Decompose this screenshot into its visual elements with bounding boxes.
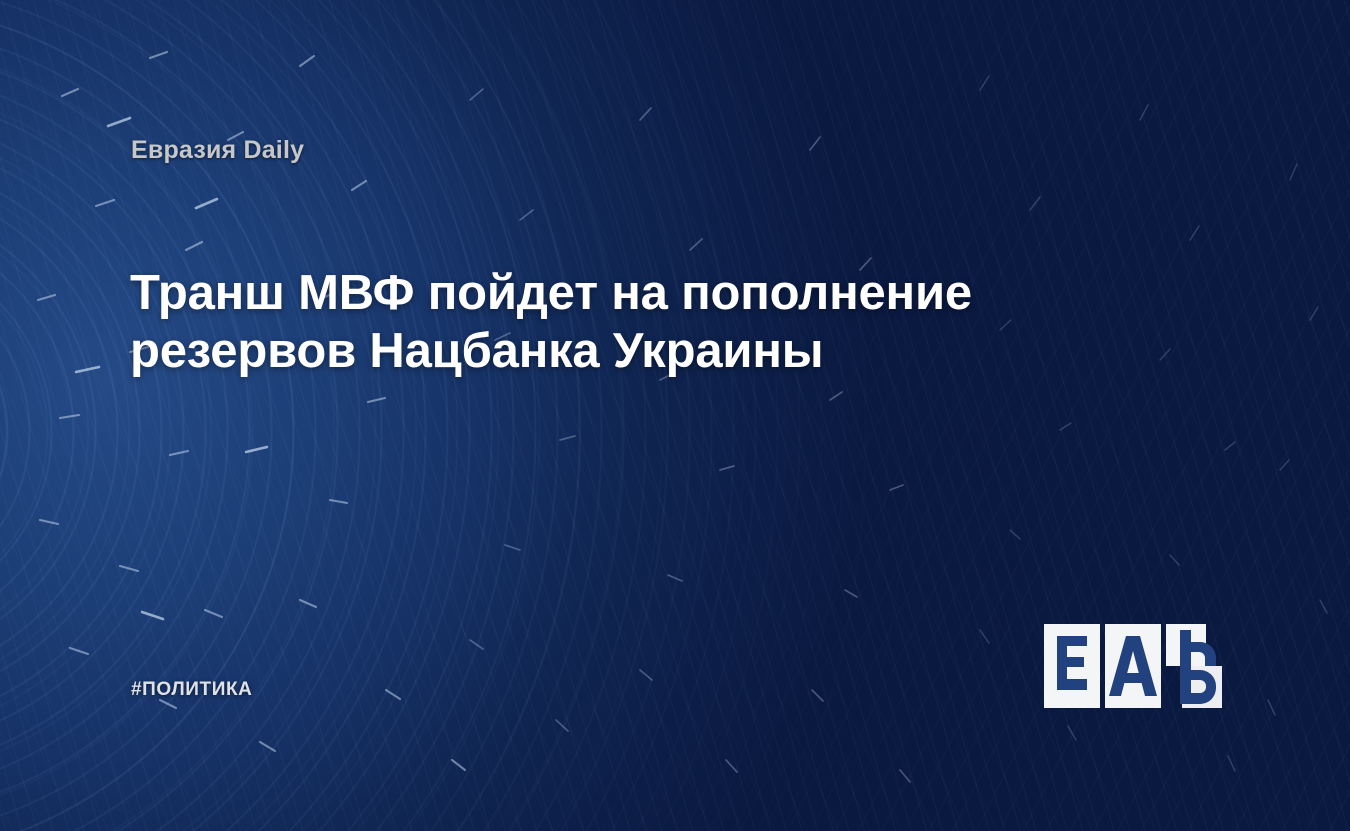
- news-cover-card: Евразия Daily Транш МВФ пойдет на пополн…: [0, 0, 1350, 831]
- ead-logo: [1044, 624, 1222, 708]
- brand-name: Евразия Daily: [131, 136, 304, 165]
- rubric-tag-politics: #ПОЛИТИКА: [131, 679, 253, 701]
- page-title: Транш МВФ пойдет на пополнение резервов …: [130, 264, 1090, 381]
- logo-letter-e: [1057, 636, 1087, 690]
- logo-letter-d-joint: [1180, 662, 1191, 670]
- cover-content: Евразия Daily Транш МВФ пойдет на пополн…: [0, 0, 1350, 831]
